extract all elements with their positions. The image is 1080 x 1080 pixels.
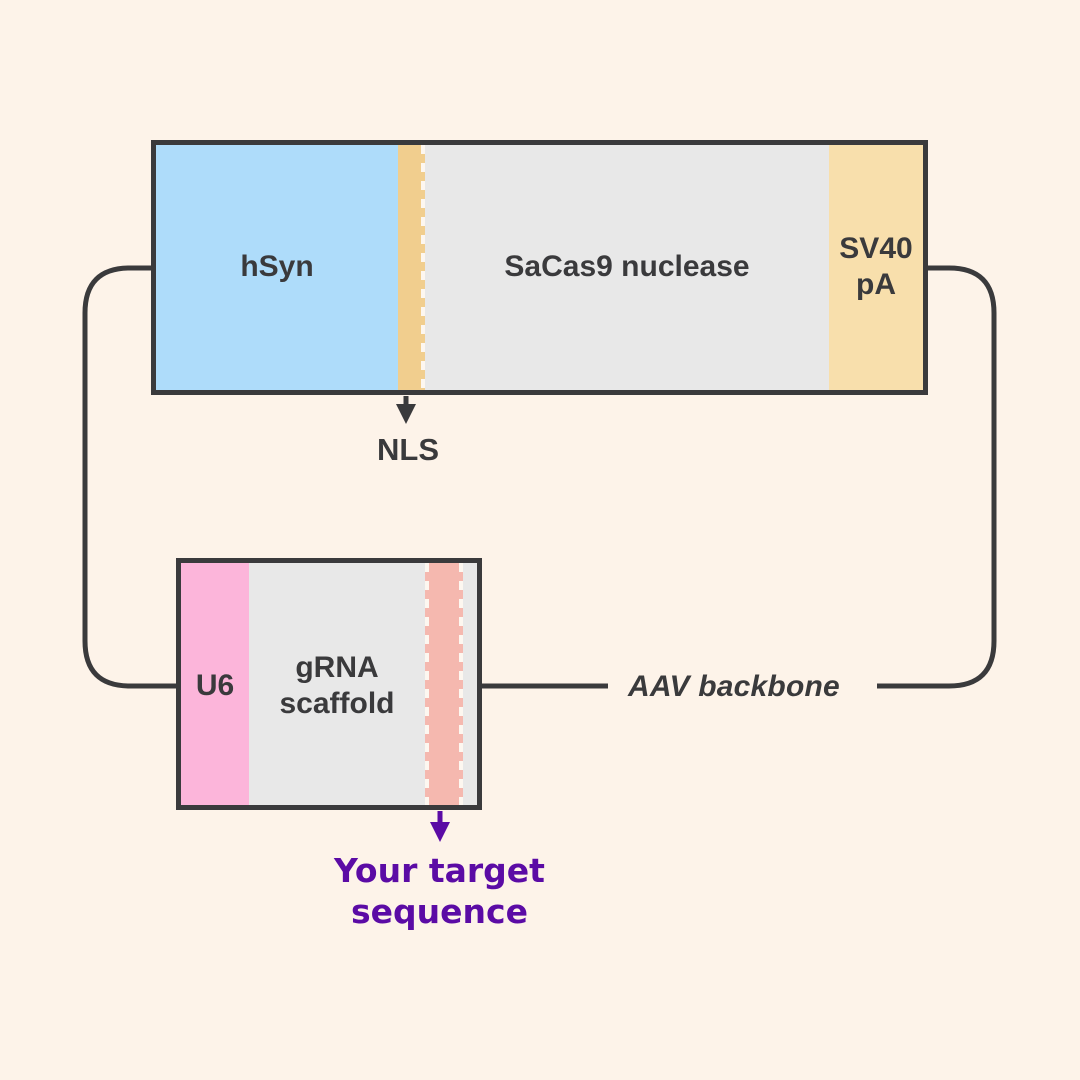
aav-backbone-label: AAV backbone (628, 670, 840, 704)
nls-annotation-label: NLS (0, 432, 948, 468)
sacas9-cassette: hSyn SaCas9 nuclease SV40 pA (151, 140, 928, 395)
segment-target-band (425, 563, 463, 805)
segment-grna-tail (463, 563, 479, 805)
segment-sv40-pa-label-line2: pA (829, 267, 923, 302)
target-band-dashed-edge-left (425, 563, 429, 805)
nls-arrow-head (396, 404, 416, 424)
segment-nls-band (398, 145, 425, 390)
segment-grna-label-line2: scaffold (249, 686, 425, 721)
target-arrow-head (430, 822, 450, 842)
segment-sv40-pa-label-line1: SV40 (829, 231, 923, 266)
segment-hsyn-promoter: hSyn (156, 145, 398, 390)
segment-grna-label-line1: gRNA (249, 650, 425, 685)
segment-hsyn-label: hSyn (156, 249, 398, 284)
segment-u6-promoter: U6 (181, 563, 249, 805)
segment-u6-label: U6 (181, 668, 249, 703)
target-sequence-annotation: Your target sequence (298, 851, 581, 933)
target-sequence-line2: sequence (298, 892, 581, 933)
target-sequence-line1: Your target (298, 851, 581, 892)
segment-sacas9-label: SaCas9 nuclease (425, 249, 829, 284)
grna-cassette: U6 gRNA scaffold (176, 558, 482, 810)
diagram-canvas: hSyn SaCas9 nuclease SV40 pA U6 gRNA sca… (0, 0, 1080, 1080)
segment-sacas9-nuclease: SaCas9 nuclease (425, 145, 829, 390)
segment-sv40-pa: SV40 pA (829, 145, 923, 390)
segment-grna-scaffold: gRNA scaffold (249, 563, 425, 805)
